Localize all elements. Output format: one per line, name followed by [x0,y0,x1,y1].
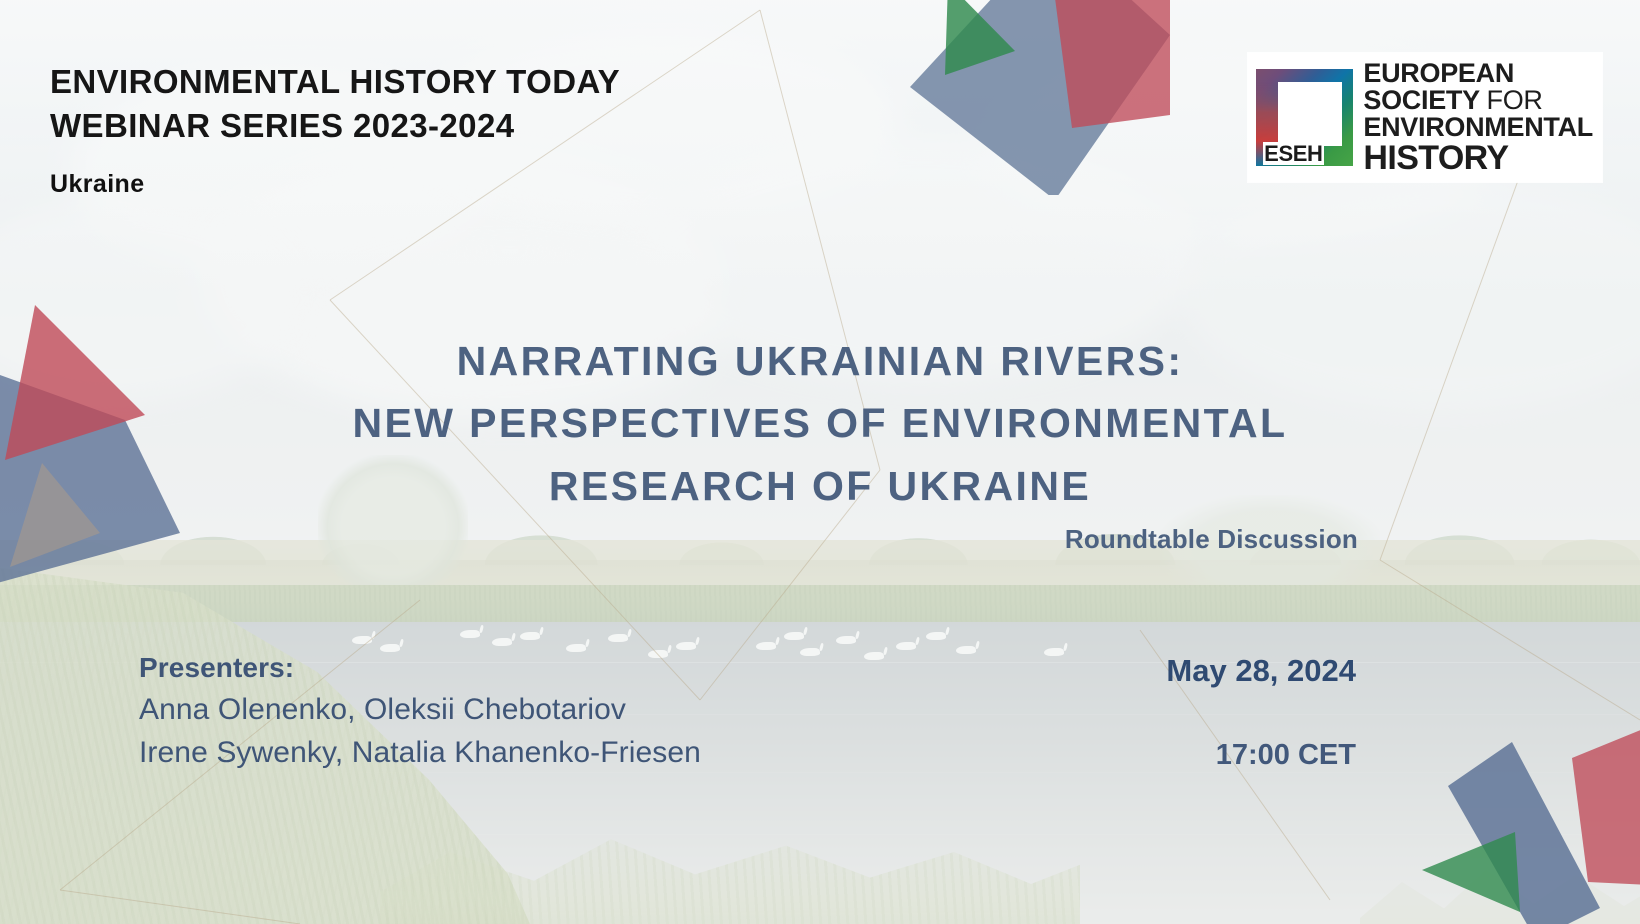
logo-line-3: ENVIRONMENTAL [1363,114,1593,141]
eseh-logo-mark-icon: ESEH [1256,69,1353,166]
event-date: May 28, 2024 [1166,653,1356,689]
event-title-line-1: NARRATING UKRAINIAN RIVERS: [0,330,1640,392]
logo-line-2-bold: SOCIETY [1363,85,1486,115]
logo-line-4: HISTORY [1363,141,1593,175]
webinar-series-heading: ENVIRONMENTAL HISTORY TODAY WEBINAR SERI… [50,60,620,199]
logo-line-1: EUROPEAN [1363,60,1593,87]
eseh-logo: ESEH EUROPEAN SOCIETY FOR ENVIRONMENTAL … [1248,53,1602,182]
series-line-1: ENVIRONMENTAL HISTORY TODAY [50,60,620,104]
event-title: NARRATING UKRAINIAN RIVERS: NEW PERSPECT… [0,330,1640,517]
presenters-block: Presenters: Anna Olenenko, Oleksii Chebo… [139,652,701,770]
eseh-acronym: ESEH [1263,142,1324,165]
event-format-label: Roundtable Discussion [0,524,1640,555]
logo-line-2: SOCIETY FOR [1363,87,1593,114]
eseh-logo-wordmark: EUROPEAN SOCIETY FOR ENVIRONMENTAL HISTO… [1363,60,1593,175]
presenters-line-1: Anna Olenenko, Oleksii Chebotariov [139,693,701,727]
country-label: Ukraine [50,170,620,199]
event-title-line-3: RESEARCH OF UKRAINE [0,455,1640,517]
presenters-label: Presenters: [139,652,701,684]
series-line-2: WEBINAR SERIES 2023-2024 [50,104,620,148]
webinar-poster: ENVIRONMENTAL HISTORY TODAY WEBINAR SERI… [0,0,1640,924]
event-time: 17:00 CET [1216,739,1356,772]
event-title-line-2: NEW PERSPECTIVES OF ENVIRONMENTAL [0,392,1640,454]
presenters-line-2: Irene Sywenky, Natalia Khanenko-Friesen [139,736,701,770]
logo-line-2-light: FOR [1487,85,1543,115]
